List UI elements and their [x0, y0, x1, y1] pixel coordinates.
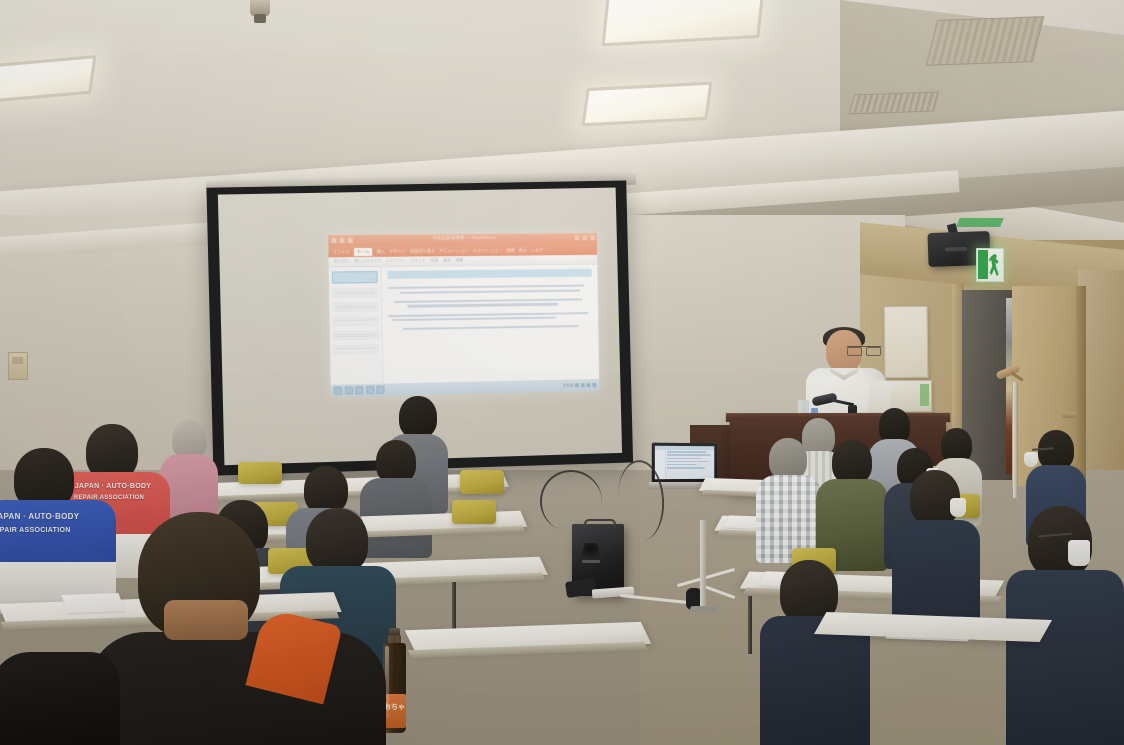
- jacket-text-line2: REPAIR ASSOCIATION: [0, 526, 90, 535]
- attendee-torso: [0, 652, 120, 745]
- mic-arm: [1010, 371, 1023, 381]
- wall-outlet-plate: [8, 352, 28, 380]
- exit-sign: [976, 248, 1004, 282]
- maximize-icon: [582, 235, 587, 240]
- attendee-head: [832, 440, 872, 484]
- mic-stand-foot: [690, 606, 718, 612]
- ribbon-tab-review: 校閲: [506, 247, 514, 253]
- chair: [460, 470, 504, 494]
- attendee-head: [399, 396, 437, 438]
- attendee: [760, 560, 870, 745]
- slide-thumbnail-pane: [329, 267, 384, 385]
- ribbon-tab-design: デザイン: [389, 248, 406, 254]
- jacket-text-line1: JAPAN · AUTO·BODY: [0, 512, 96, 521]
- browser-icon: [355, 386, 363, 394]
- attendee-head: [769, 438, 807, 480]
- slide-thumbnail: [333, 344, 379, 354]
- ribbon-tab-home: ホーム: [354, 247, 373, 255]
- attendee-torso: [1006, 570, 1124, 745]
- toolbar-item-paste: 貼り付け: [334, 259, 350, 264]
- hvac-vent: [849, 92, 939, 115]
- wall-poster-notice: [884, 306, 929, 378]
- toolbar-item-new-slide: 新しいスライド: [354, 259, 381, 264]
- ime-language-indicator: 日本語: [562, 383, 573, 388]
- start-icon: [334, 387, 342, 395]
- slide-thumbnail: [333, 330, 379, 340]
- projected-window-title: 日本自動車整備 — PowerPoint: [432, 235, 496, 241]
- attendee-foreground: [86, 610, 386, 745]
- speaker-badge: [582, 560, 600, 563]
- ribbon-tab-animations: アニメーション: [439, 248, 468, 254]
- slide-paragraph: [389, 325, 593, 331]
- battery-icon: [587, 383, 591, 387]
- slide-content-area: [382, 265, 600, 384]
- face-mask: [1024, 452, 1038, 467]
- ribbon-tab-slideshow: スライド ショー: [472, 247, 502, 253]
- taskbar-pinned-icons: [334, 386, 385, 395]
- desk-leg: [748, 596, 752, 654]
- minimize-icon: [575, 235, 580, 240]
- clock-icon: [592, 383, 596, 387]
- slide-paragraph: [388, 312, 592, 322]
- slide-thumbnail-active: [332, 271, 378, 284]
- slide-thumbnail: [332, 288, 378, 298]
- attendee-head: [306, 508, 368, 574]
- chair: [452, 500, 496, 524]
- close-icon: [590, 235, 595, 240]
- slide-thumbnail: [333, 316, 379, 326]
- network-icon: [575, 383, 579, 387]
- slide-thumbnail: [332, 302, 378, 312]
- undo-icon: [340, 238, 345, 243]
- attendee-blue-jacket: JAPAN · AUTO·BODY REPAIR ASSOCIATION: [0, 448, 116, 618]
- projected-application-window: 日本自動車整備 — PowerPoint ファイル ホーム 挿入 デザイン 画面…: [328, 233, 599, 397]
- smoke-detector-icon: [250, 0, 270, 16]
- save-icon: [331, 238, 336, 243]
- taskbar-system-tray: 日本語: [562, 382, 596, 388]
- explorer-icon: [344, 386, 352, 394]
- ribbon-tab-insert: 挿入: [376, 248, 385, 254]
- speaker-handle: [584, 519, 616, 529]
- seminar-room-photo: 日本自動車整備 — PowerPoint ファイル ホーム 挿入 デザイン 画面…: [0, 0, 1124, 745]
- ceiling-light-panel: [581, 82, 712, 127]
- poster-accent-block: [920, 384, 929, 406]
- speaker-cone-icon: [581, 543, 601, 558]
- laptop-screen: [655, 445, 714, 478]
- ribbon-tab-file: ファイル: [333, 249, 350, 255]
- attendee-head: [1038, 430, 1074, 470]
- toolbar-item-paragraph: 段落: [431, 258, 439, 263]
- projected-window-body: [329, 265, 599, 385]
- window-controls: [575, 235, 595, 240]
- redo-icon: [348, 238, 353, 243]
- powerpoint-icon: [376, 386, 384, 394]
- hvac-vent: [926, 16, 1045, 66]
- toolbar-item-shapes: 図形: [443, 258, 451, 263]
- toolbar-item-layout: レイアウト: [386, 259, 405, 264]
- attendee-neck: [164, 600, 248, 640]
- mail-icon: [366, 386, 374, 394]
- chair: [238, 462, 282, 484]
- mic-pole: [1013, 382, 1018, 498]
- slide-paragraph: [388, 284, 592, 293]
- attendee: [756, 438, 822, 560]
- slide-heading-bar: [388, 269, 592, 279]
- volume-icon: [581, 383, 585, 387]
- attendee-head: [304, 466, 348, 514]
- exit-sign-glow: [956, 218, 1004, 227]
- toolbar-item-editing: 編集: [456, 258, 464, 263]
- mic-stand-pole: [700, 520, 706, 610]
- face-mask: [950, 498, 966, 517]
- presenter-head: [826, 330, 862, 372]
- ribbon-tab-transitions: 画面切り替え: [410, 248, 435, 254]
- attendee-right-foreground: [0, 652, 120, 745]
- ribbon-tab-view: 表示: [518, 247, 526, 253]
- attendee: [892, 470, 980, 630]
- face-mask: [1068, 540, 1090, 566]
- running-man-icon: [989, 254, 1000, 276]
- attendee-torso: [86, 632, 386, 745]
- glasses-icon: [847, 346, 881, 354]
- ribbon-tab-help: ヘルプ: [531, 247, 543, 253]
- toolbar-item-font: フォント: [410, 258, 425, 263]
- slide-paragraph: [388, 298, 592, 308]
- exit-sign-panel: [978, 250, 988, 279]
